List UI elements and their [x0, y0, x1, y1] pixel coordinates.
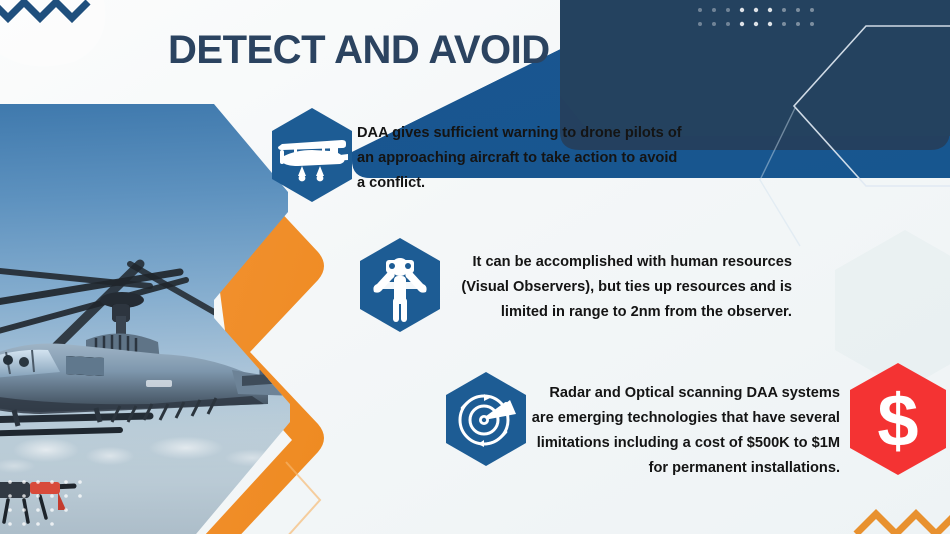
navy-band-shape-2	[560, 0, 950, 136]
hex-badge-airplane[interactable]	[268, 106, 356, 204]
orange-zigzag	[856, 514, 950, 534]
hex-badge-radar[interactable]	[442, 370, 530, 468]
text-block-3: Radar and Optical scanning DAA systems a…	[528, 381, 840, 481]
radar-scanning-icon	[442, 370, 530, 468]
hex-badge-visual-observer[interactable]	[356, 236, 444, 334]
text-block-2: It can be accomplished with human resour…	[452, 250, 792, 325]
pilot-silhouette	[3, 355, 13, 365]
text-block-3-bold: $500K to $1M	[747, 435, 840, 451]
visual-observer-binoculars-icon	[356, 236, 444, 334]
dollar-sign-icon: $	[846, 360, 950, 478]
airplane-icon	[268, 106, 356, 204]
cost-badge[interactable]: $	[846, 360, 950, 478]
slide-canvas: DETECT AND AVOID	[0, 0, 950, 534]
text-block-1-lead: DAA gives sufficient warning to drone pi…	[357, 125, 682, 191]
dollar-glyph: $	[877, 379, 918, 462]
white-dot-grid-bottom-left	[4, 474, 124, 534]
text-block-1: DAA gives sufficient warning to drone pi…	[357, 121, 687, 196]
page-title: DETECT AND AVOID	[168, 28, 550, 73]
text-block-3-tail: for permanent installations.	[649, 460, 840, 476]
text-block-2-bold: range to 2nm from the observer.	[569, 304, 792, 320]
